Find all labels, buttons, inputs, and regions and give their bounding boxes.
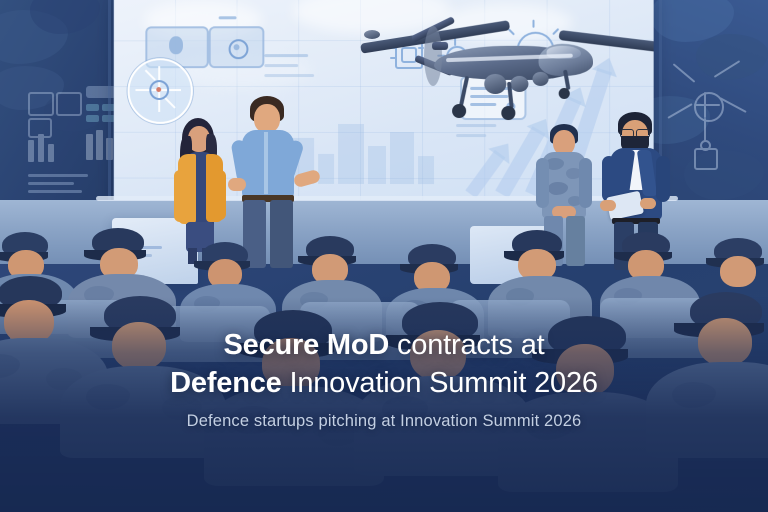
headline-line1-rest: contracts at: [389, 329, 544, 361]
headline-line1-bold: Secure MoD: [224, 329, 390, 361]
promo-banner: Secure MoD contracts at Defence Innovati…: [0, 0, 768, 512]
subtitle: Defence startups pitching at Innovation …: [0, 412, 768, 431]
headline: Secure MoD contracts at Defence Innovati…: [0, 326, 768, 402]
headline-line2-rest: Innovation Summit 2026: [282, 367, 598, 399]
headline-line2-bold: Defence: [170, 367, 281, 399]
overlay-text: Secure MoD contracts at Defence Innovati…: [0, 312, 768, 512]
